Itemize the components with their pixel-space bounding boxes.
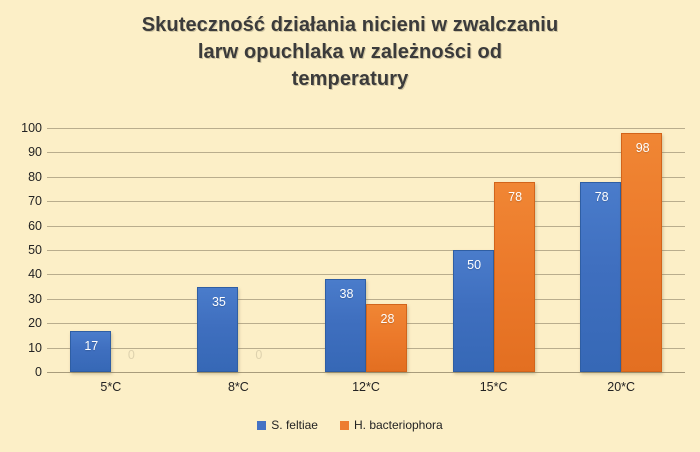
bar-15*C-H. bacteriophora[interactable]: 78 xyxy=(494,182,535,372)
x-tick-label: 12*C xyxy=(306,380,426,394)
bar-20*C-S. feltiae[interactable]: 78 xyxy=(580,182,621,372)
y-tick-label: 0 xyxy=(2,366,42,378)
x-tick-label: 15*C xyxy=(434,380,554,394)
bar-value-label: 78 xyxy=(495,190,536,204)
y-tick-label: 100 xyxy=(2,122,42,134)
legend-swatch-icon xyxy=(257,421,266,430)
y-axis: 1009080706050403020100 xyxy=(0,128,42,372)
bar-15*C-S. feltiae[interactable]: 50 xyxy=(453,250,494,372)
legend-label: S. feltiae xyxy=(271,418,318,432)
y-tick-label: 10 xyxy=(2,342,42,354)
bar-12*C-H. bacteriophora[interactable]: 28 xyxy=(366,304,407,372)
bar-value-label: 78 xyxy=(581,190,622,204)
bar-value-label: 28 xyxy=(367,312,408,326)
chart-title-line-1: Skuteczność działania nicieni w zwalczan… xyxy=(70,12,630,39)
y-tick-label: 60 xyxy=(2,220,42,232)
bar-value-label-zero: 0 xyxy=(238,348,279,362)
chart-legend: S. feltiaeH. bacteriophora xyxy=(0,418,700,432)
plot-area: 170350382850787898 xyxy=(47,128,685,372)
x-tick-label: 20*C xyxy=(561,380,681,394)
legend-item-0[interactable]: S. feltiae xyxy=(257,418,318,432)
chart-title-line-3: temperatury xyxy=(70,66,630,93)
bar-value-label: 38 xyxy=(326,287,367,301)
legend-swatch-icon xyxy=(340,421,349,430)
y-tick-label: 70 xyxy=(2,195,42,207)
chart-title: Skuteczność działania nicieni w zwalczan… xyxy=(70,12,630,93)
bar-20*C-H. bacteriophora[interactable]: 98 xyxy=(621,133,662,372)
y-tick-label: 40 xyxy=(2,268,42,280)
bar-12*C-S. feltiae[interactable]: 38 xyxy=(325,279,366,372)
bar-5*C-S. feltiae[interactable]: 17 xyxy=(70,331,111,372)
gridline-90 xyxy=(47,152,685,153)
bar-value-label: 17 xyxy=(71,339,112,353)
x-tick-label: 8*C xyxy=(178,380,298,394)
y-tick-label: 30 xyxy=(2,293,42,305)
y-tick-label: 80 xyxy=(2,171,42,183)
chart-title-line-2: larw opuchlaka w zależności od xyxy=(70,39,630,66)
legend-item-1[interactable]: H. bacteriophora xyxy=(340,418,443,432)
bar-value-label-zero: 0 xyxy=(111,348,152,362)
bar-value-label: 50 xyxy=(454,258,495,272)
gridline-100 xyxy=(47,128,685,129)
bar-value-label: 98 xyxy=(622,141,663,155)
x-tick-label: 5*C xyxy=(51,380,171,394)
y-tick-label: 90 xyxy=(2,146,42,158)
gridline-0 xyxy=(47,372,685,373)
gridline-80 xyxy=(47,177,685,178)
bar-chart: Skuteczność działania nicieni w zwalczan… xyxy=(0,0,700,452)
bar-8*C-S. feltiae[interactable]: 35 xyxy=(197,287,238,372)
y-tick-label: 50 xyxy=(2,244,42,256)
y-tick-label: 20 xyxy=(2,317,42,329)
bar-value-label: 35 xyxy=(198,295,239,309)
legend-label: H. bacteriophora xyxy=(354,418,443,432)
